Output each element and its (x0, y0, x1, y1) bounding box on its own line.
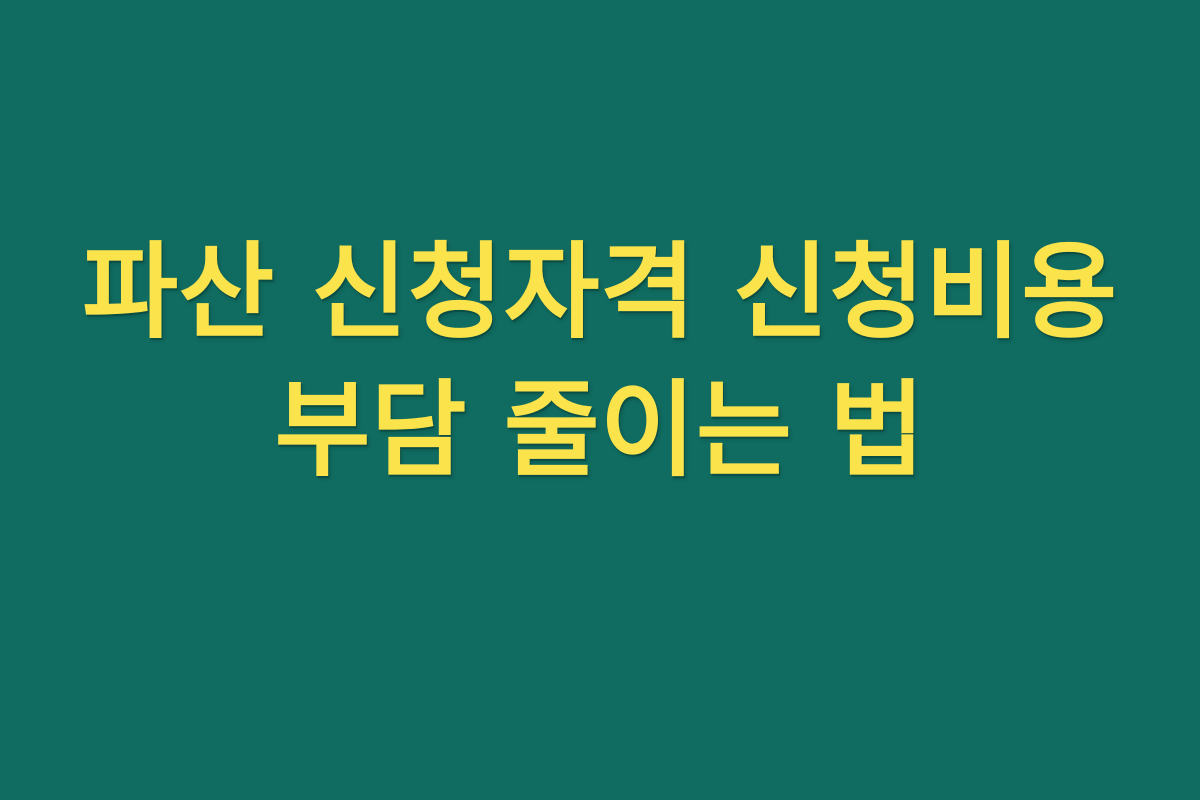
banner-title-line-2: 부담 줄이는 법 (0, 361, 1200, 499)
banner-background: 파산 신청자격 신청비용 부담 줄이는 법 (0, 0, 1200, 800)
banner-title-line-1: 파산 신청자격 신청비용 (0, 223, 1200, 361)
banner-title-block: 파산 신청자격 신청비용 부담 줄이는 법 (0, 223, 1200, 499)
